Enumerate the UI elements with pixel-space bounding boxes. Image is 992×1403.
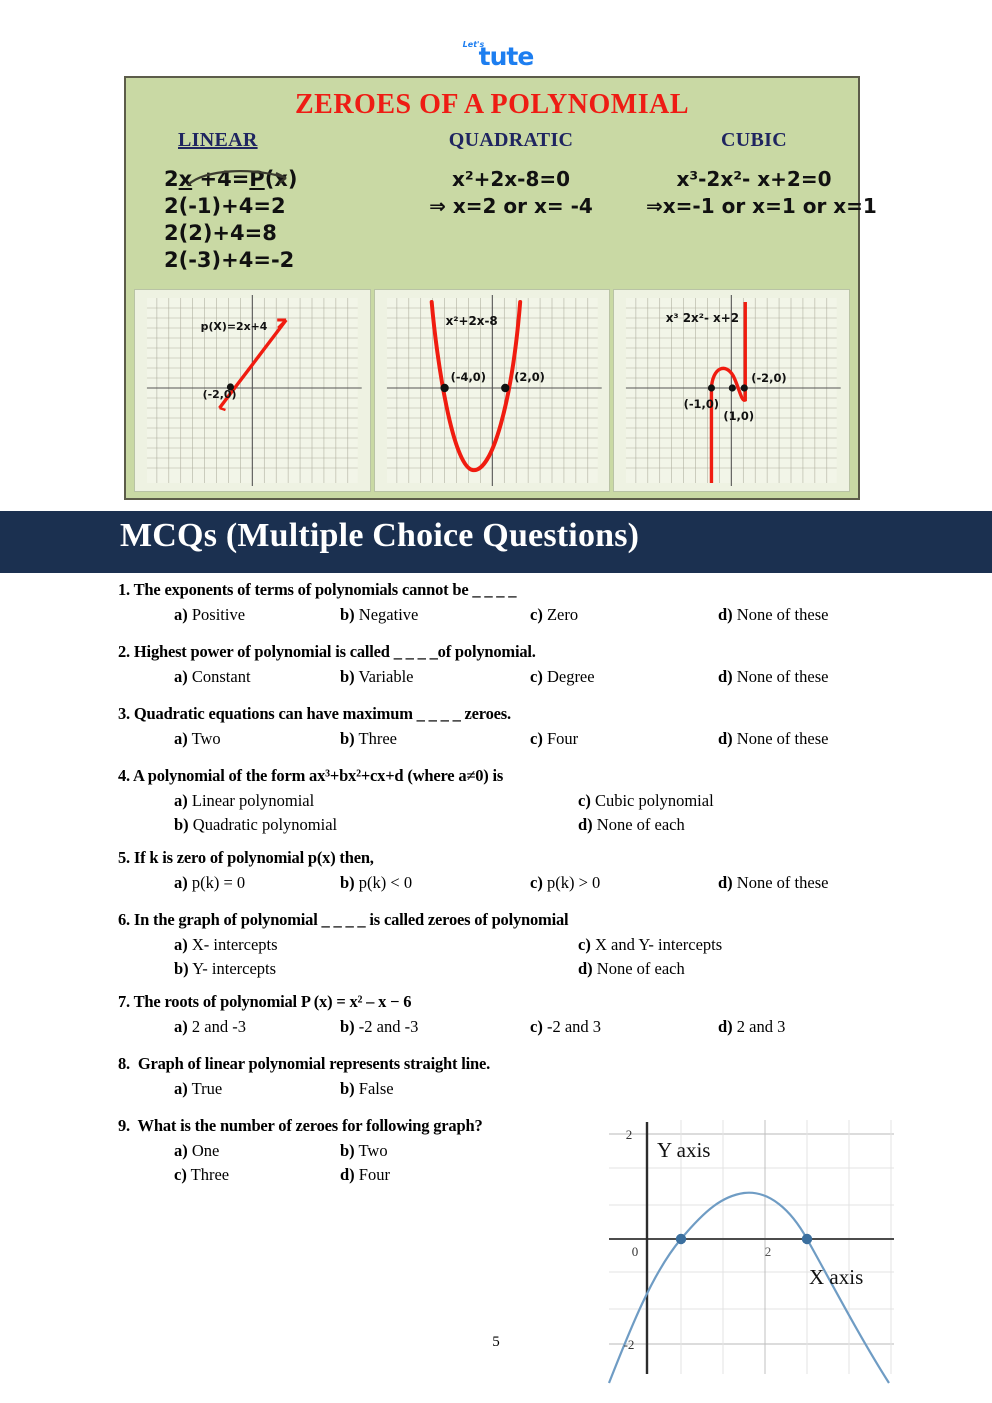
question-3-option-b[interactable]: b) Three xyxy=(340,728,397,750)
question-3-option-c[interactable]: c) Four xyxy=(530,728,578,750)
question-3-number: 3. xyxy=(118,704,130,723)
poster-column-cubic: CUBIC x³-2x²- x+2=0 ⇒x=-1 or x=1 or x=1 xyxy=(646,129,862,220)
question-2-option-a[interactable]: a) Constant xyxy=(174,666,251,688)
quadratic-line-1: x²+2x-8=0 xyxy=(396,166,626,193)
question-6-text: 6. In the graph of polynomial _ _ _ _ is… xyxy=(118,910,972,930)
question-2-body: Highest power of polynomial is called _ … xyxy=(134,642,536,661)
page-number: 5 xyxy=(0,1334,992,1351)
question-7-option-a[interactable]: a) 2 and -3 xyxy=(174,1016,246,1038)
question-8-body: Graph of linear polynomial represents st… xyxy=(138,1054,490,1073)
question-7-text: 7. The roots of polynomial P (x) = x² – … xyxy=(118,992,972,1012)
cubic-line-2: ⇒x=-1 or x=1 or x=1 xyxy=(646,193,862,220)
linear-line-2: 2(-1)+4=2 xyxy=(164,193,372,220)
question-9-number: 9. xyxy=(118,1116,130,1135)
spacer xyxy=(0,688,992,704)
chart-origin-label: 0 xyxy=(632,1244,639,1259)
question-4-options: a) Linear polynomial b) Quadratic polyno… xyxy=(118,790,972,836)
mini-cubic-point-label-2: (1,0) xyxy=(724,409,755,423)
question-8-options: a) True b) False xyxy=(118,1078,972,1100)
question-5-text: 5. If k is zero of polynomial p(x) then, xyxy=(118,848,972,868)
question-4-option-b[interactable]: b) Quadratic polynomial xyxy=(174,814,337,836)
question-9-body: What is the number of zeroes for followi… xyxy=(138,1116,483,1135)
logo-text: Let's tute xyxy=(459,44,534,70)
question-2-option-d[interactable]: d) None of these xyxy=(718,666,828,688)
brand-logo: Let's tute xyxy=(0,44,992,78)
mini-quadratic-equation-label: x²+2x-8 xyxy=(445,314,497,328)
question-8-option-b[interactable]: b) False xyxy=(340,1078,394,1100)
question-2-options: a) Constant b) Variable c) Degree d) Non… xyxy=(118,666,972,688)
question-4-option-a[interactable]: a) Linear polynomial xyxy=(174,790,314,812)
question-8-option-a[interactable]: a) True xyxy=(174,1078,222,1100)
question-1-option-d[interactable]: d) None of these xyxy=(718,604,828,626)
question-4-body: A polynomial of the form ax³+bx²+cx+d (w… xyxy=(133,766,503,785)
question-3-option-a[interactable]: a) Two xyxy=(174,728,221,750)
spacer xyxy=(0,750,992,766)
question-2: 2. Highest power of polynomial is called… xyxy=(0,642,992,688)
poster-title: ZEROES OF A POLYNOMIAL xyxy=(126,89,858,121)
question-6-options: a) X- intercepts b) Y- intercepts c) X a… xyxy=(118,934,972,980)
mini-quadratic-point-label-1: (-4,0) xyxy=(450,370,485,384)
question-7: 7. The roots of polynomial P (x) = x² – … xyxy=(0,992,992,1038)
question-2-option-b[interactable]: b) Variable xyxy=(340,666,413,688)
question-9-option-d[interactable]: d) Four xyxy=(340,1164,390,1186)
spacer xyxy=(0,626,992,642)
chart-xtick-2: 2 xyxy=(765,1244,772,1259)
question-2-option-c[interactable]: c) Degree xyxy=(530,666,595,688)
question-6-option-c[interactable]: c) X and Y- intercepts xyxy=(578,934,722,956)
question-7-option-d[interactable]: d) 2 and 3 xyxy=(718,1016,785,1038)
mini-cubic-point-label-1: (-1,0) xyxy=(684,397,719,411)
chart-x-axis-label: X axis xyxy=(809,1265,863,1289)
question-2-text: 2. Highest power of polynomial is called… xyxy=(118,642,972,662)
mini-graph-cubic: (-1,0) (1,0) (-2,0) x³ 2x²- x+2 xyxy=(613,289,850,492)
quadratic-graph-svg: (-4,0) (2,0) x²+2x-8 xyxy=(375,290,610,491)
poster-heading-cubic: CUBIC xyxy=(646,129,862,152)
question-3: 3. Quadratic equations can have maximum … xyxy=(0,704,992,750)
question-4: 4. A polynomial of the form ax³+bx²+cx+d… xyxy=(0,766,992,836)
question-1-number: 1. xyxy=(118,580,130,599)
chart-ytick-top: 2 xyxy=(626,1127,633,1142)
question-4-text: 4. A polynomial of the form ax³+bx²+cx+d… xyxy=(118,766,972,786)
curved-arrow-icon xyxy=(184,167,304,189)
mcq-section-title: MCQs (Multiple Choice Questions) xyxy=(120,517,639,555)
question-1-text: 1. The exponents of terms of polynomials… xyxy=(118,580,972,600)
chart-root-point-2 xyxy=(802,1234,812,1244)
question-6-option-b[interactable]: b) Y- intercepts xyxy=(174,958,276,980)
question-6-option-d[interactable]: d) None of each xyxy=(578,958,685,980)
question-6-option-a[interactable]: a) X- intercepts xyxy=(174,934,278,956)
cubic-graph-svg: (-1,0) (1,0) (-2,0) x³ 2x²- x+2 xyxy=(614,290,849,491)
question-list: 1. The exponents of terms of polynomials… xyxy=(0,580,992,1186)
question-5-option-a[interactable]: a) p(k) = 0 xyxy=(174,872,245,894)
linear-graph-svg: (-2,0) p(X)=2x+4 xyxy=(135,290,370,491)
question-9-graph: 2 -2 0 2 Y axis X axis xyxy=(601,1112,898,1396)
question-8-text: 8. Graph of linear polynomial represents… xyxy=(118,1054,972,1074)
question-6-body: In the graph of polynomial _ _ _ _ is ca… xyxy=(134,910,569,929)
poster-banner: ZEROES OF A POLYNOMIAL LINEAR 2x +4=P(x)… xyxy=(124,76,860,500)
question-2-number: 2. xyxy=(118,642,130,661)
question-1-option-a[interactable]: a) Positive xyxy=(174,604,245,626)
question-1-body: The exponents of terms of polynomials ca… xyxy=(134,580,517,599)
question-1-option-c[interactable]: c) Zero xyxy=(530,604,578,626)
question-5-body: If k is zero of polynomial p(x) then, xyxy=(134,848,374,867)
question-8-number: 8. xyxy=(118,1054,130,1073)
poster-graph-row: (-2,0) p(X)=2x+4 xyxy=(134,289,850,492)
poster-body-cubic: x³-2x²- x+2=0 ⇒x=-1 or x=1 or x=1 xyxy=(646,166,862,220)
question-1-option-b[interactable]: b) Negative xyxy=(340,604,418,626)
spacer xyxy=(0,836,992,848)
chart-root-point-1 xyxy=(676,1234,686,1244)
poster-columns: LINEAR 2x +4=P(x) 2(-1)+4=2 2(2)+4=8 2(-… xyxy=(126,121,858,311)
question-7-number: 7. xyxy=(118,992,130,1011)
poster-column-linear: LINEAR 2x +4=P(x) 2(-1)+4=2 2(2)+4=8 2(-… xyxy=(152,129,372,274)
question-7-option-b[interactable]: b) -2 and -3 xyxy=(340,1016,418,1038)
spacer xyxy=(0,894,992,910)
parabola-chart-svg: 2 -2 0 2 Y axis X axis xyxy=(601,1112,898,1396)
question-8: 8. Graph of linear polynomial represents… xyxy=(0,1054,992,1100)
question-5-option-b[interactable]: b) p(k) < 0 xyxy=(340,872,412,894)
question-5-number: 5. xyxy=(118,848,130,867)
poster-column-quadratic: QUADRATIC x²+2x-8=0 ⇒ x=2 or x= -4 xyxy=(396,129,626,220)
question-1: 1. The exponents of terms of polynomials… xyxy=(0,580,992,626)
linear-line-4: 2(-3)+4=-2 xyxy=(164,247,372,274)
question-4-number: 4. xyxy=(118,766,130,785)
mini-graph-quadratic: (-4,0) (2,0) x²+2x-8 xyxy=(374,289,611,492)
question-9-option-b[interactable]: b) Two xyxy=(340,1140,388,1162)
cubic-line-1: x³-2x²- x+2=0 xyxy=(646,166,862,193)
mini-cubic-point-label-3: (-2,0) xyxy=(752,371,787,385)
mini-graph-linear: (-2,0) p(X)=2x+4 xyxy=(134,289,371,492)
question-6-number: 6. xyxy=(118,910,130,929)
poster-heading-quadratic: QUADRATIC xyxy=(396,129,626,152)
question-3-text: 3. Quadratic equations can have maximum … xyxy=(118,704,972,724)
mini-linear-equation-label: p(X)=2x+4 xyxy=(201,320,268,333)
question-7-body: The roots of polynomial P (x) = x² – x −… xyxy=(134,992,412,1011)
question-9-option-a[interactable]: a) One xyxy=(174,1140,219,1162)
poster-heading-linear: LINEAR xyxy=(152,129,372,152)
mini-linear-point-label: (-2,0) xyxy=(203,388,237,401)
question-4-option-d[interactable]: d) None of each xyxy=(578,814,685,836)
question-7-options: a) 2 and -3 b) -2 and -3 c) -2 and 3 d) … xyxy=(118,1016,972,1038)
question-3-body: Quadratic equations can have maximum _ _… xyxy=(134,704,511,723)
question-3-options: a) Two b) Three c) Four d) None of these xyxy=(118,728,972,750)
mini-cubic-equation-label: x³ 2x²- x+2 xyxy=(666,311,739,325)
chart-y-axis-label: Y axis xyxy=(657,1138,710,1162)
question-3-option-d[interactable]: d) None of these xyxy=(718,728,828,750)
question-1-options: a) Positive b) Negative c) Zero d) None … xyxy=(118,604,972,626)
question-4-option-c[interactable]: c) Cubic polynomial xyxy=(578,790,714,812)
mcq-section-header: MCQs (Multiple Choice Questions) xyxy=(0,511,992,573)
spacer xyxy=(0,1038,992,1054)
linear-line-3: 2(2)+4=8 xyxy=(164,220,372,247)
question-6: 6. In the graph of polynomial _ _ _ _ is… xyxy=(0,910,992,980)
poster-body-quadratic: x²+2x-8=0 ⇒ x=2 or x= -4 xyxy=(396,166,626,220)
question-7-option-c[interactable]: c) -2 and 3 xyxy=(530,1016,601,1038)
question-9-option-c[interactable]: c) Three xyxy=(174,1164,229,1186)
spacer xyxy=(0,980,992,992)
logo-lets-text: Let's xyxy=(463,40,485,49)
question-5-option-c[interactable]: c) p(k) > 0 xyxy=(530,872,600,894)
quadratic-line-2: ⇒ x=2 or x= -4 xyxy=(396,193,626,220)
mini-quadratic-point-label-2: (2,0) xyxy=(514,370,545,384)
question-5-options: a) p(k) = 0 b) p(k) < 0 c) p(k) > 0 d) N… xyxy=(118,872,972,894)
question-5-option-d[interactable]: d) None of these xyxy=(718,872,828,894)
question-5: 5. If k is zero of polynomial p(x) then,… xyxy=(0,848,992,894)
